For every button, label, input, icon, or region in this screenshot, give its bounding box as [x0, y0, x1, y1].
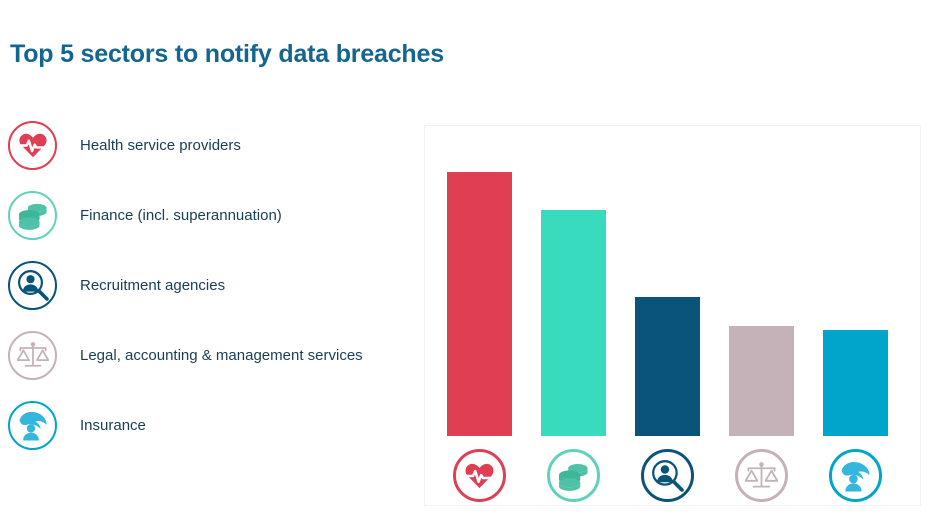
axis-person-magnifier-icon [641, 449, 694, 502]
axis-heart-pulse-icon [453, 449, 506, 502]
legend-item-label: Recruitment agencies [80, 277, 225, 294]
legend-item-legal: Legal, accounting & management services [8, 320, 408, 390]
coins-stack-icon [8, 191, 57, 240]
legend-item-label: Insurance [80, 417, 146, 434]
axis-person-umbrella-icon [829, 449, 882, 502]
bar-rect[interactable] [541, 210, 606, 436]
bar-rect[interactable] [447, 172, 512, 436]
axis-coins-stack-icon [547, 449, 600, 502]
page-title: Top 5 sectors to notify data breaches [10, 40, 444, 69]
legend-item-label: Health service providers [80, 137, 241, 154]
bar-rect[interactable] [635, 297, 700, 436]
axis-scales-of-justice-icon [735, 449, 788, 502]
legend-item-health: Health service providers [8, 110, 408, 180]
legend-item-label: Finance (incl. superannuation) [80, 207, 282, 224]
bar-rect[interactable] [823, 330, 888, 436]
person-umbrella-icon [8, 401, 57, 450]
chart-legend: Health service providers Finance (incl. … [8, 110, 408, 460]
scales-of-justice-icon [8, 331, 57, 380]
bar-rect[interactable] [729, 326, 794, 436]
legend-item-label: Legal, accounting & management services [80, 347, 363, 364]
person-magnifier-icon [8, 261, 57, 310]
legend-item-finance: Finance (incl. superannuation) [8, 180, 408, 250]
category-axis-icons [424, 449, 921, 505]
legend-item-recruitment: Recruitment agencies [8, 250, 408, 320]
heart-pulse-icon [8, 121, 57, 170]
legend-item-insurance: Insurance [8, 390, 408, 460]
